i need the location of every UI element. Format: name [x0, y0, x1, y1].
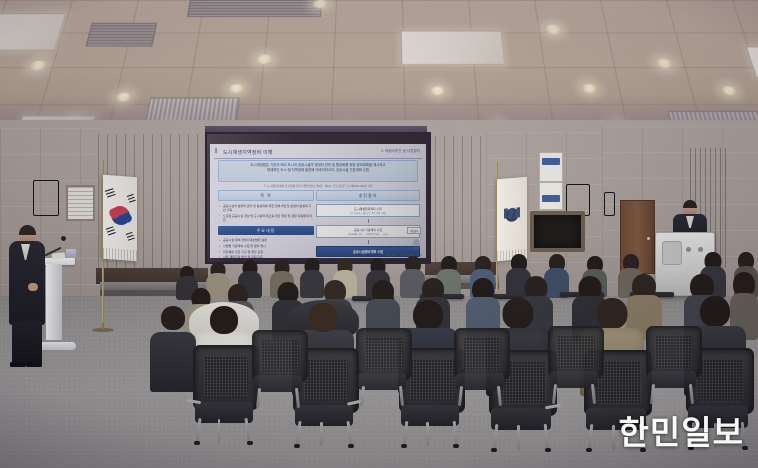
chair-mesh-panel [697, 359, 743, 402]
chair-mesh-panel [261, 339, 298, 373]
slide-section-2-item: 사업별 기본계획 수립 및 절차 명시 [218, 244, 314, 248]
slide-flow-header: 추진절차 [316, 190, 420, 201]
chair-legs [293, 421, 355, 446]
press-watermark: 한민일보 [619, 406, 744, 454]
chair-caster-icon [247, 441, 253, 445]
wall-poster-upper [539, 152, 563, 182]
head [503, 298, 534, 329]
lectern-control-panel[interactable] [662, 241, 682, 265]
chair-mesh-panel [304, 359, 349, 402]
slide-section-2-header: 주요내용 [218, 226, 314, 235]
wall-speaker-left [33, 180, 59, 216]
slide-title-row: Ⅰ 도시재생지역정비 이해 3. 재정비추진 및 사업절차 [214, 147, 422, 159]
ceiling-downlight [544, 25, 563, 35]
chair-back [193, 345, 259, 410]
chair-caster-icon [348, 444, 354, 448]
flag-fringe [103, 248, 137, 261]
trigram-icon [106, 226, 117, 236]
ceiling-downlight [430, 86, 446, 95]
slide-legal-note: ※ 도시재생 활성화 및 지원에 관한 특별법 제2조 제1항 · 제6호 / … [218, 184, 418, 188]
jacket [150, 332, 196, 392]
chair-mesh-panel [204, 356, 249, 399]
chair-mesh-panel [557, 335, 594, 369]
trigram-icon [127, 194, 137, 204]
chair-legs [454, 386, 506, 406]
podium-device [66, 249, 76, 258]
head [210, 306, 238, 334]
chair-legs [193, 418, 255, 443]
slide-section-1-item: 공공시설의 효율적 관리 및 활성화를 위한 정비사업 및 운영의 활성화 기반… [218, 204, 314, 212]
audience-chair[interactable] [646, 326, 698, 404]
flow-step-1: 도시재생전략계획 수립 (시·도지사, 시장·군수, 5년 단위 수립) [316, 204, 420, 217]
flagstand-left [92, 328, 114, 332]
audience-member-front [150, 306, 196, 392]
slide-chapter-number: Ⅰ [215, 147, 217, 155]
taeguk-circle-icon [108, 203, 134, 228]
audience-chair[interactable] [193, 345, 255, 443]
chair-caster-icon [586, 448, 592, 452]
audience-chair[interactable] [548, 326, 600, 404]
ceiling-vent [85, 23, 157, 47]
podium-column [46, 264, 62, 340]
chair-legs [356, 386, 408, 406]
poster-band [542, 158, 561, 165]
slide-banner-line-2: 체계적인 도시 및 지역경제 발전에 이바지하고자, 공공시설 기본계획 수립 [223, 168, 413, 173]
flow-step-2-side-tag: 행정절차 [407, 227, 421, 234]
chair-caster-icon [194, 441, 200, 445]
projection-screen: Ⅰ 도시재생지역정비 이해 3. 재정비추진 및 사업절차 도시재생법은 기존의… [205, 132, 431, 264]
trigram-icon [126, 232, 136, 242]
taegukgi-flag [103, 175, 137, 261]
chair-legs [646, 384, 698, 404]
wall-poster-lower [539, 182, 563, 210]
chair-legs [252, 388, 304, 408]
chair-legs [489, 424, 553, 450]
head [597, 298, 628, 329]
flow-step-2-label: 공공시설 기본계획 수립 [354, 228, 382, 232]
flow-step-1-label: 도시재생전략계획 수립 [354, 207, 381, 211]
wall-notice-sign [66, 185, 95, 221]
slide-watermark-logo-icon [413, 239, 420, 251]
chair-mesh-panel [410, 359, 455, 402]
poster-band [542, 195, 561, 201]
slide-section-2-item: 지자체의 추진 기구 및 역할 규정 [218, 250, 314, 254]
presenter-shoe [10, 362, 26, 367]
head [413, 300, 443, 330]
head [309, 303, 338, 332]
slide-section-1-item: 노후된 공공시설 개선 및 도시활력 제고를 위한 행정 및 재정 지원체계 마… [218, 214, 314, 222]
presenter-shoe [26, 362, 42, 367]
microphone-head-icon [61, 236, 66, 241]
chair-mesh-panel [655, 335, 692, 369]
presenter-at-podium [6, 225, 46, 365]
chair-mesh-panel [365, 337, 402, 371]
organization-flag [497, 177, 527, 262]
trigram-icon [105, 188, 116, 199]
ceiling-downlight [581, 84, 598, 93]
flow-connector [368, 219, 369, 223]
flow-step-2: 공공시설 기본계획 수립 (지자체장 수립 → 주민의견 청취 → 고시) [316, 225, 420, 238]
wall-mounted-tv [530, 211, 585, 252]
flow-step-2-sub: (지자체장 수립 → 주민의견 청취 → 고시) [318, 232, 418, 236]
slide-header-right: 3. 재정비추진 및 사업절차 [381, 149, 420, 154]
slide-banner-line-1: 도시재생법은 기존의 여러 도시의 공공시설의 체계적 관리 및 활성화를 위한… [223, 163, 413, 168]
presenter-trousers [12, 321, 42, 365]
wood-wall-panel-right [426, 136, 488, 276]
ceiling-panel-light [401, 31, 506, 65]
head [700, 296, 730, 327]
wall-speaker-far-right [604, 192, 615, 216]
auditorium-photo: Ⅰ 도시재생지역정비 이해 3. 재정비추진 및 사업절차 도시재생법은 기존의… [0, 0, 758, 468]
slide-left-column: 목 적 공공시설의 효율적 관리 및 활성화를 위한 정비사업 및 운영의 활성… [218, 190, 314, 254]
chair-caster-icon [294, 444, 300, 448]
chair-caster-icon [491, 448, 497, 452]
chair-legs [399, 421, 461, 446]
slide-summary-banner: 도시재생법은 기존의 여러 도시의 공공시설의 체계적 관리 및 활성화를 위한… [218, 160, 418, 182]
presentation-slide: Ⅰ 도시재생지역정비 이해 3. 재정비추진 및 사업절차 도시재생법은 기존의… [210, 144, 426, 258]
slide-section-1-header: 목 적 [218, 190, 314, 201]
door-knob-icon [647, 237, 650, 240]
ceiling-panel-light [0, 13, 66, 50]
chair-caster-icon [453, 444, 459, 448]
audience-chair[interactable] [252, 330, 304, 408]
ceiling-vent [187, 0, 322, 17]
chair-legs [548, 384, 600, 404]
head [161, 306, 185, 330]
slide-section-2-item: 공공시설 정비사업의 대상범위 설정 [218, 238, 314, 242]
flow-connector [368, 240, 369, 244]
chair-caster-icon [545, 448, 551, 452]
chair-caster-icon [401, 444, 407, 448]
flow-step-2-wrap: 공공시설 기본계획 수립 (지자체장 수립 → 주민의견 청취 → 고시) 행정… [316, 225, 420, 238]
presenter-hand [28, 283, 38, 291]
slide-title: 도시재생지역정비 이해 [223, 149, 273, 156]
audience-chair[interactable] [356, 328, 408, 406]
organization-emblem-icon [502, 203, 522, 225]
lectern-speaker-grille-icon [686, 247, 691, 252]
slide-right-column: 추진절차 도시재생전략계획 수립 (시·도지사, 시장·군수, 5년 단위 수립… [316, 190, 420, 254]
flow-step-1-sub: (시·도지사, 시장·군수, 5년 단위 수립) [318, 211, 418, 215]
audience-chair[interactable] [454, 328, 506, 406]
chair-mesh-panel [463, 337, 500, 371]
